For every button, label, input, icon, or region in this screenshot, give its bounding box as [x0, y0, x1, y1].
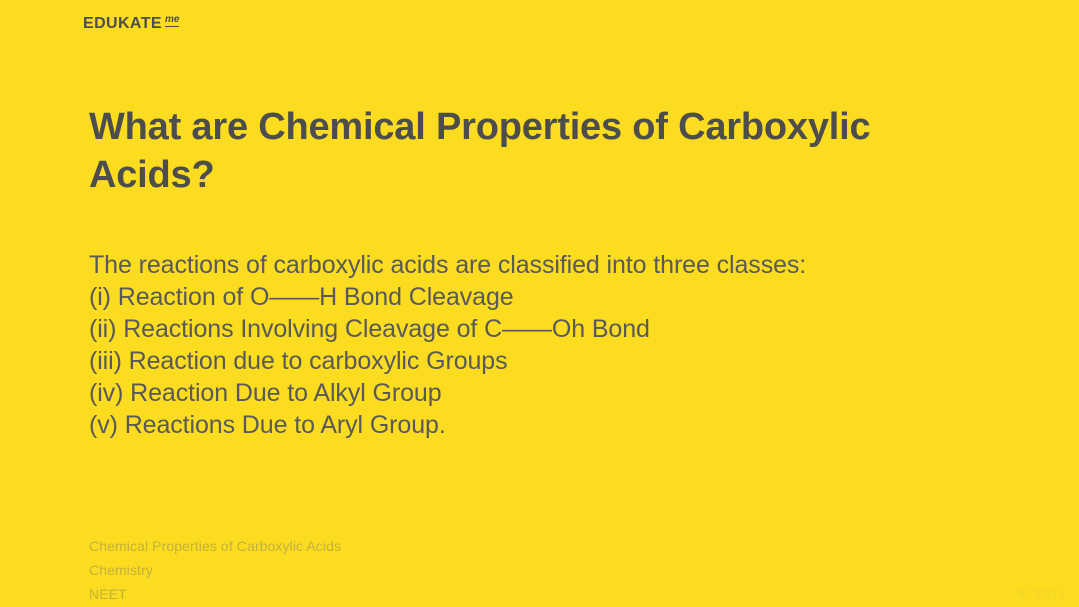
- footer-subject: Chemistry: [89, 558, 689, 582]
- body-line-item-i: (i) Reaction of O——H Bond Cleavage: [89, 281, 1009, 313]
- brand-wordmark: EDUKATE: [83, 16, 162, 32]
- corner-watermark: 973014: [1018, 586, 1067, 601]
- body-line-item-ii: (ii) Reactions Involving Cleavage of C——…: [89, 313, 1009, 345]
- footer-topic: Chemical Properties of Carboxylic Acids: [89, 534, 689, 558]
- edukate-logo: EDUKATE me: [83, 16, 179, 32]
- body-line-item-iii: (iii) Reaction due to carboxylic Groups: [89, 345, 1009, 377]
- slide-body: The reactions of carboxylic acids are cl…: [89, 249, 1009, 441]
- slide-footer: Chemical Properties of Carboxylic Acids …: [89, 534, 689, 606]
- body-line-intro: The reactions of carboxylic acids are cl…: [89, 249, 1009, 281]
- brand-superscript: me: [165, 15, 179, 27]
- slide-title: What are Chemical Properties of Carboxyl…: [89, 103, 989, 199]
- slide-canvas: EDUKATE me What are Chemical Properties …: [0, 0, 1079, 607]
- body-line-item-iv: (iv) Reaction Due to Alkyl Group: [89, 377, 1009, 409]
- body-line-item-v: (v) Reactions Due to Aryl Group.: [89, 409, 1009, 441]
- footer-exam: NEET: [89, 582, 689, 606]
